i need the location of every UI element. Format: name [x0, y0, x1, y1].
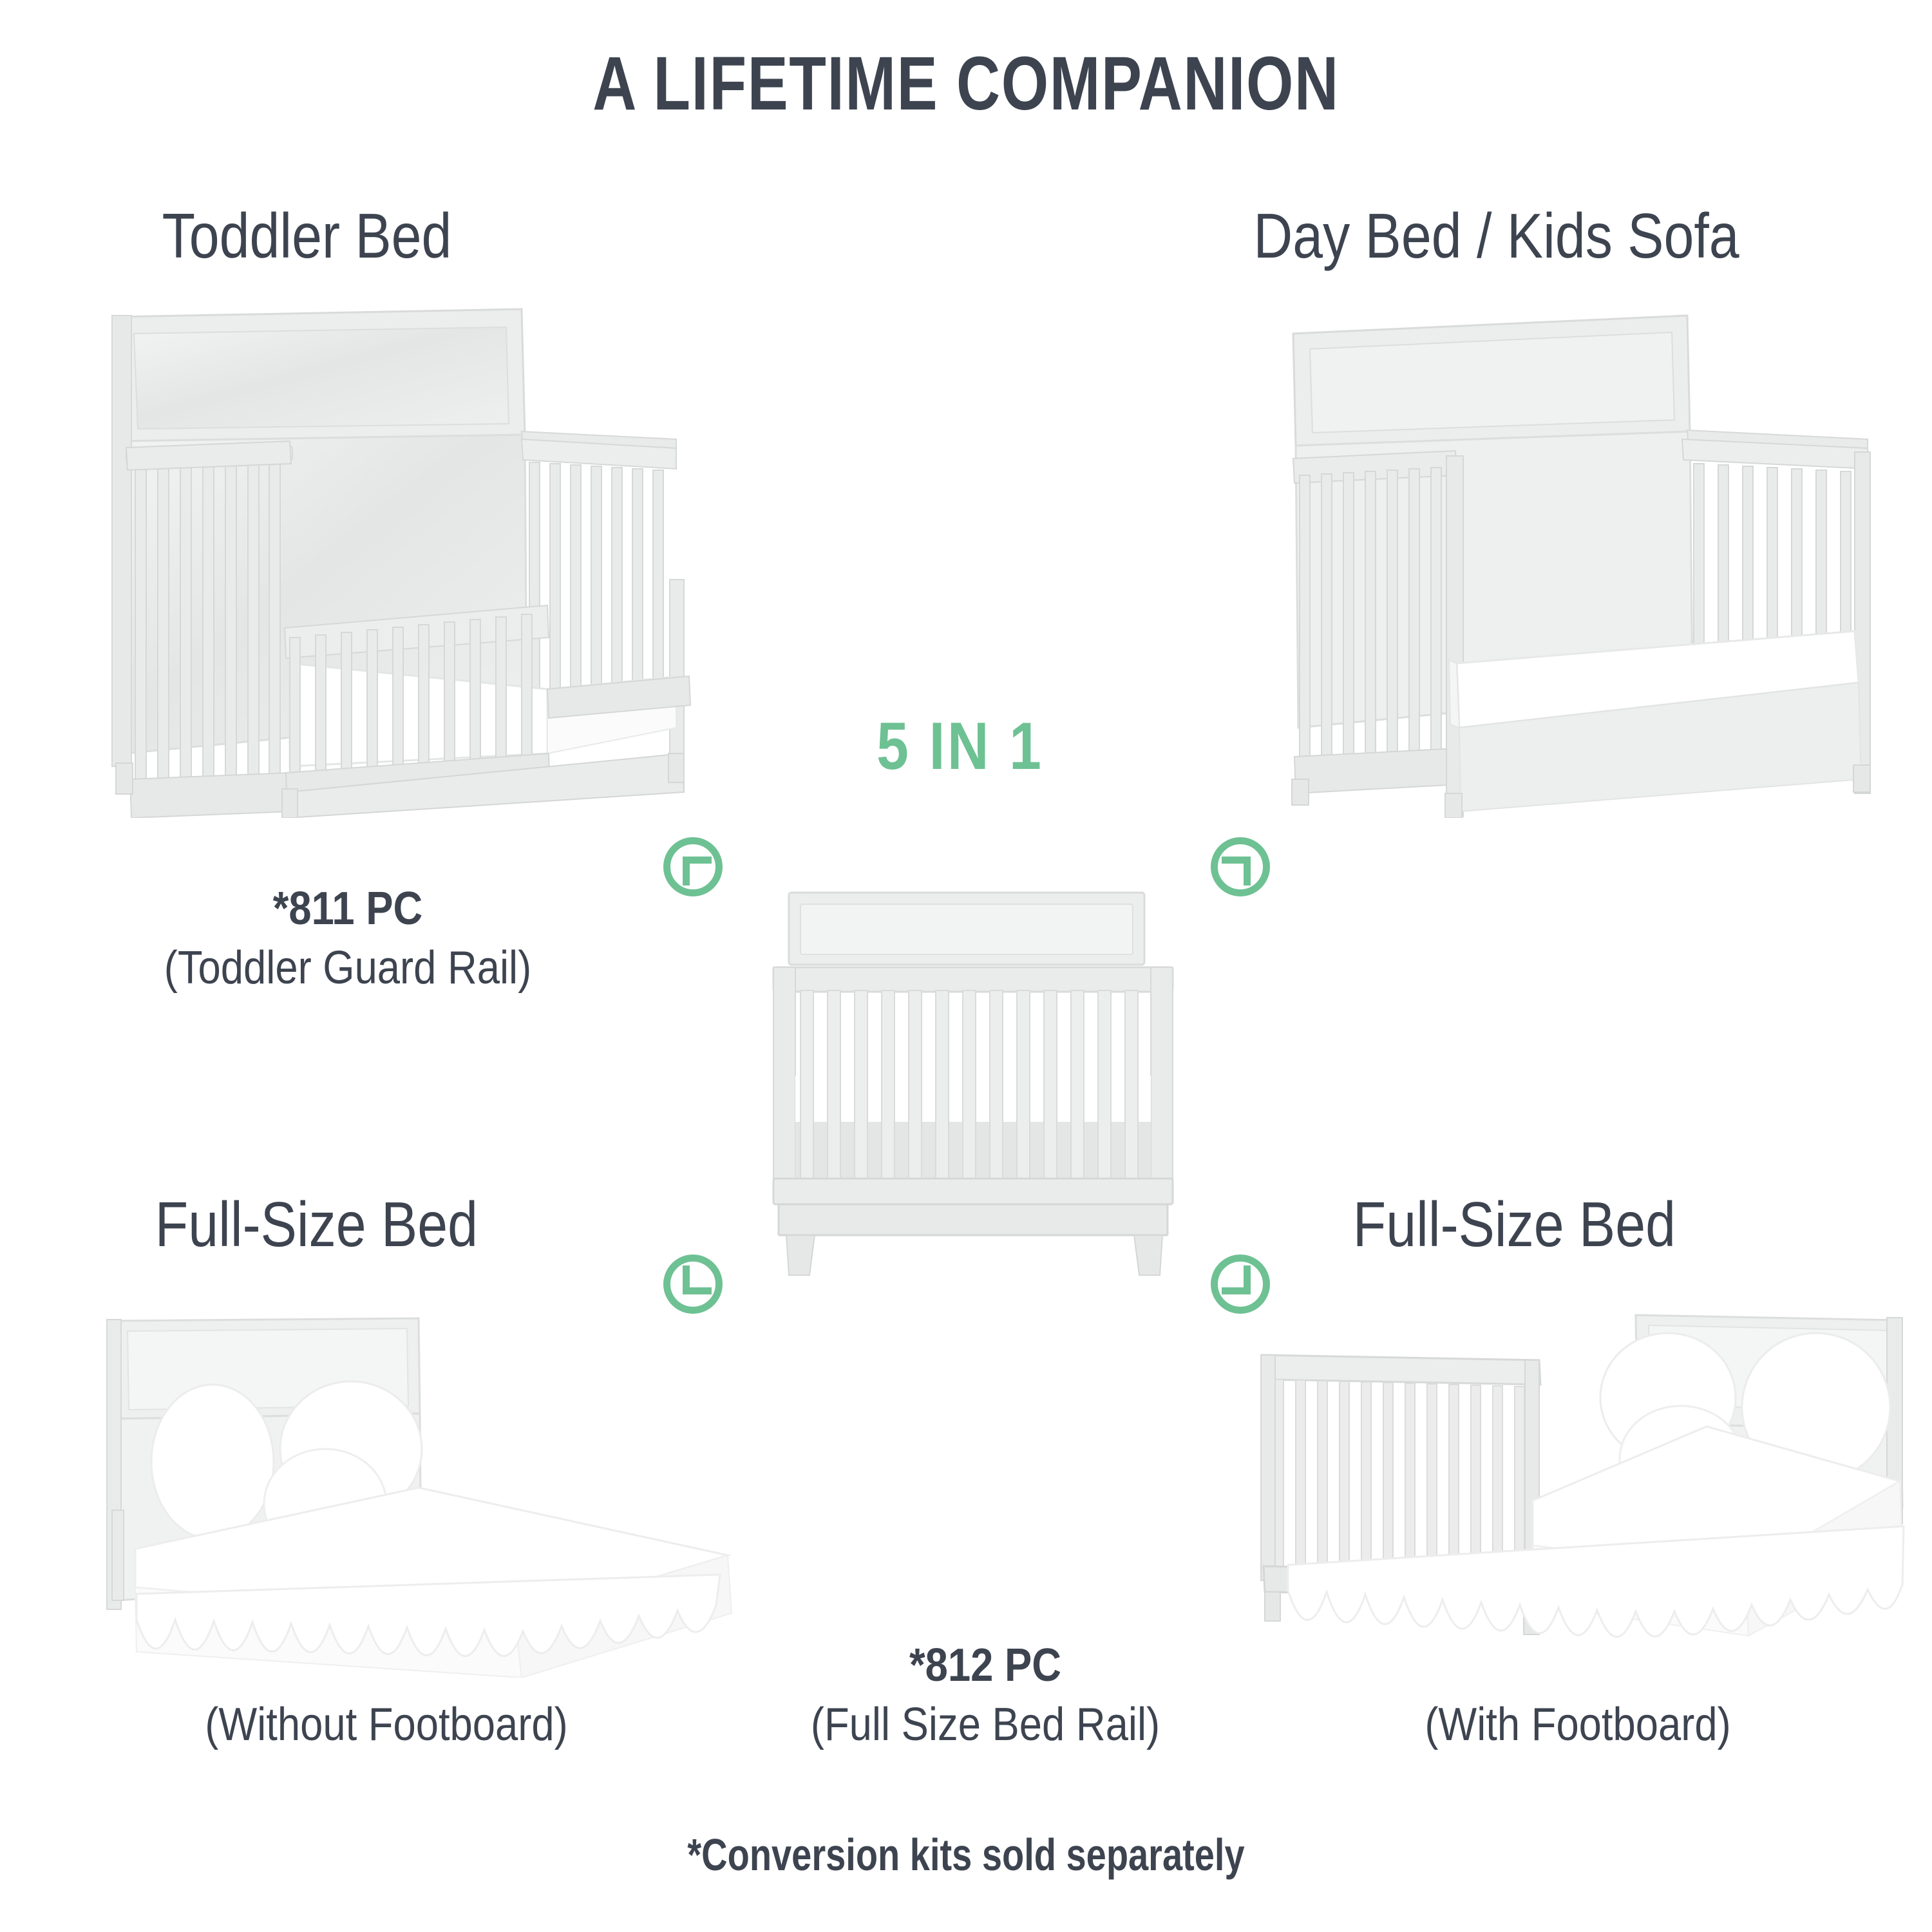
panel-title-full-size-bed-with-footboard: Full-Size Bed	[1353, 1188, 1676, 1261]
footnote-conversion-kits: *Conversion kits sold separately	[193, 1829, 1739, 1880]
caption-detail-toddler-guard-rail: (Toddler Guard Rail)	[121, 942, 574, 994]
panel-title-toddler-bed: Toddler Bed	[162, 200, 452, 272]
corner-bottom-left-icon	[683, 1265, 712, 1294]
panel-title-day-bed: Day Bed / Kids Sofa	[1253, 200, 1739, 272]
caption-detail-full-size-bed-rail: (Full Size Bed Rail)	[787, 1698, 1184, 1751]
corner-top-left-icon	[683, 857, 712, 885]
full-size-bed-with-footboard-illustration	[1256, 1314, 1919, 1681]
full-size-bed-without-footboard-illustration	[97, 1317, 753, 1678]
badge-bottom-left	[663, 1255, 723, 1314]
badge-bottom-right	[1211, 1255, 1270, 1314]
corner-top-right-icon	[1222, 857, 1251, 885]
five-in-one-label: 5 IN 1	[876, 708, 1043, 785]
caption-detail-without-footboard: (Without Footboard)	[160, 1698, 613, 1751]
badge-top-left	[663, 837, 723, 896]
badge-top-right	[1211, 837, 1270, 896]
day-bed-illustration	[1288, 303, 1932, 818]
caption-code-toddler-guard-rail: *811 PC	[121, 882, 574, 935]
page-title: A LIFETIME COMPANION	[193, 40, 1739, 128]
panel-title-full-size-bed-without-footboard: Full-Size Bed	[155, 1188, 478, 1261]
toddler-bed-illustration	[97, 303, 715, 818]
crib-illustration	[770, 889, 1195, 1288]
caption-code-full-size-bed-rail: *812 PC	[787, 1639, 1184, 1692]
caption-detail-with-footboard: (With Footboard)	[1379, 1698, 1776, 1751]
corner-bottom-right-icon	[1222, 1265, 1251, 1294]
